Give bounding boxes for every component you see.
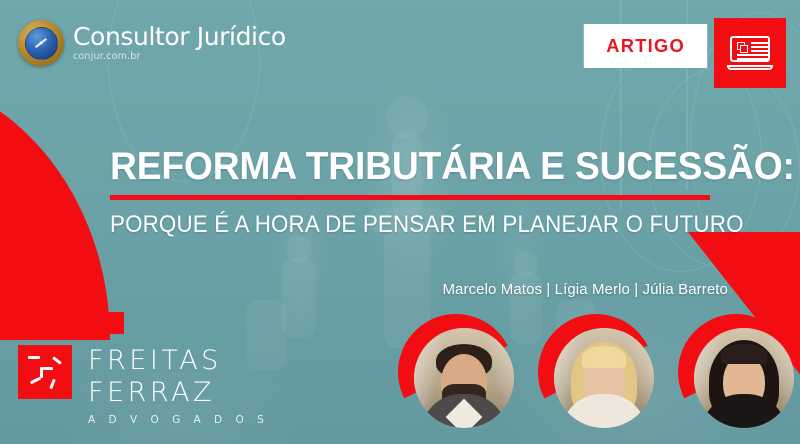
author-portraits [400, 308, 800, 444]
article-banner: Consultor Jurídico conjur.com.br ARTIGO … [0, 0, 800, 444]
portrait-ligia-merlo [540, 316, 652, 428]
laptop-article-icon [714, 18, 786, 88]
law-firm-name-line1: FREITAS [88, 347, 269, 374]
chess-piece-decor [282, 258, 316, 338]
publisher-name: Consultor Jurídico [73, 24, 286, 49]
authors-line: Marcelo Matos | Lígia Merlo | Júlia Barr… [442, 281, 728, 298]
article-badge-label: ARTIGO [584, 24, 708, 68]
title-underline [110, 195, 710, 200]
portrait-marcelo-matos [400, 316, 512, 428]
law-firm-name-line2: FERRAZ [88, 379, 269, 406]
compass-icon [18, 20, 64, 66]
red-bar-shape [0, 312, 124, 334]
law-firm-tagline: A D V O G A D O S [88, 415, 269, 426]
avatar [554, 328, 654, 428]
page-title: REFORMA TRIBUTÁRIA E SUCESSÃO: [110, 147, 702, 186]
avatar [694, 328, 794, 428]
page-subtitle: PORQUE É A HORA DE PENSAR EM PLANEJAR O … [110, 211, 687, 239]
headline-block: REFORMA TRIBUTÁRIA E SUCESSÃO: PORQUE É … [110, 147, 730, 239]
article-badge: ARTIGO [585, 18, 786, 88]
portrait-julia-barreto [680, 316, 792, 428]
avatar [414, 328, 514, 428]
freitas-ferraz-mark-icon [18, 345, 72, 399]
law-firm-logo[interactable]: FREITAS FERRAZ A D V O G A D O S [18, 345, 269, 426]
publisher-url: conjur.com.br [73, 52, 286, 62]
publisher-logo[interactable]: Consultor Jurídico conjur.com.br [18, 20, 286, 66]
